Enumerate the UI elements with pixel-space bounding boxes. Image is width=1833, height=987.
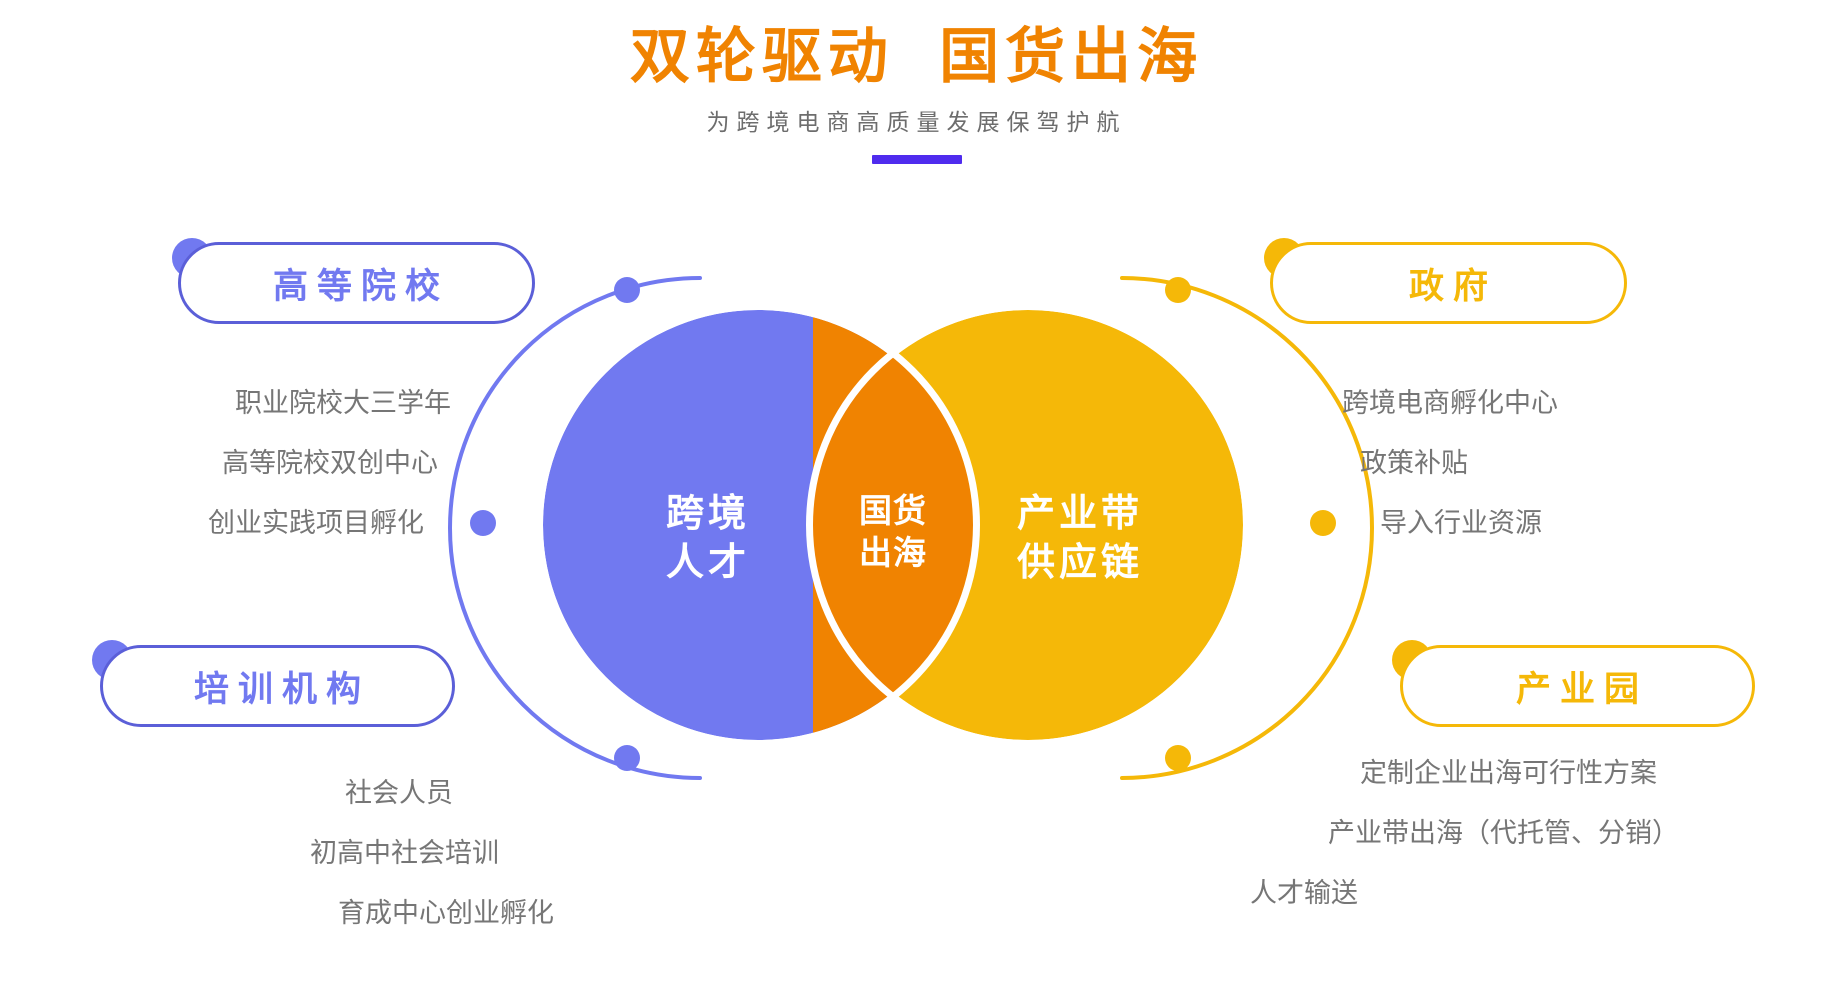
bullet-item: 导入行业资源	[1380, 510, 1690, 537]
bullet-item: 定制企业出海可行性方案	[1360, 760, 1810, 787]
bullet-group-training-institution: 社会人员 初高中社会培训 育成中心创业孵化	[290, 780, 590, 960]
category-pill-industrial-park[interactable]: 产业园	[1400, 645, 1755, 727]
bullet-item: 政策补贴	[1360, 450, 1690, 477]
bullet-item: 职业院校大三学年	[176, 390, 510, 417]
bullet-item: 人才输送	[1250, 880, 1810, 907]
venn-label-right: 产业带 供应链	[975, 490, 1185, 587]
bullet-item: 初高中社会培训	[310, 840, 590, 867]
category-pill-label: 政府	[1400, 258, 1497, 309]
orbit-dot-right-bottom	[1165, 745, 1191, 771]
orbit-dot-left-top	[614, 277, 640, 303]
bullet-item: 创业实践项目孵化	[122, 510, 510, 537]
page-subtitle: 为跨境电商高质量发展保驾护航	[0, 103, 1833, 137]
venn-diagram: 跨境 人才 国货 出海 产业带 供应链	[543, 310, 1243, 740]
bullet-item: 高等院校双创中心	[150, 450, 510, 477]
category-pill-label: 产业园	[1507, 661, 1648, 712]
venn-label-center: 国货 出海	[815, 490, 971, 574]
bullet-item: 产业带出海（代托管、分销）	[1328, 820, 1810, 847]
bullet-item: 跨境电商孵化中心	[1342, 390, 1690, 417]
orbit-dot-left-bottom	[614, 745, 640, 771]
venn-label-left: 跨境 人才	[603, 490, 813, 587]
bullet-item: 育成中心创业孵化	[338, 900, 590, 927]
header: 双轮驱动 国货出海 为跨境电商高质量发展保驾护航	[0, 0, 1833, 164]
category-pill-training-institution[interactable]: 培训机构	[100, 645, 455, 727]
page-title: 双轮驱动 国货出海	[0, 22, 1833, 91]
category-pill-higher-education[interactable]: 高等院校	[178, 242, 535, 324]
category-pill-label: 培训机构	[185, 661, 370, 712]
bullet-group-higher-education: 职业院校大三学年 高等院校双创中心 创业实践项目孵化	[150, 390, 510, 570]
orbit-dot-right-top	[1165, 277, 1191, 303]
infographic-canvas: 双轮驱动 国货出海 为跨境电商高质量发展保驾护航 跨境 人才 国货 出海 产业带…	[0, 0, 1833, 987]
bullet-group-government: 跨境电商孵化中心 政策补贴 导入行业资源	[1330, 390, 1690, 570]
title-underline-rule	[872, 155, 962, 164]
category-pill-government[interactable]: 政府	[1270, 242, 1627, 324]
category-pill-label: 高等院校	[264, 258, 449, 309]
bullet-item: 社会人员	[345, 780, 590, 807]
bullet-group-industrial-park: 定制企业出海可行性方案 产业带出海（代托管、分销） 人才输送	[1250, 760, 1810, 940]
